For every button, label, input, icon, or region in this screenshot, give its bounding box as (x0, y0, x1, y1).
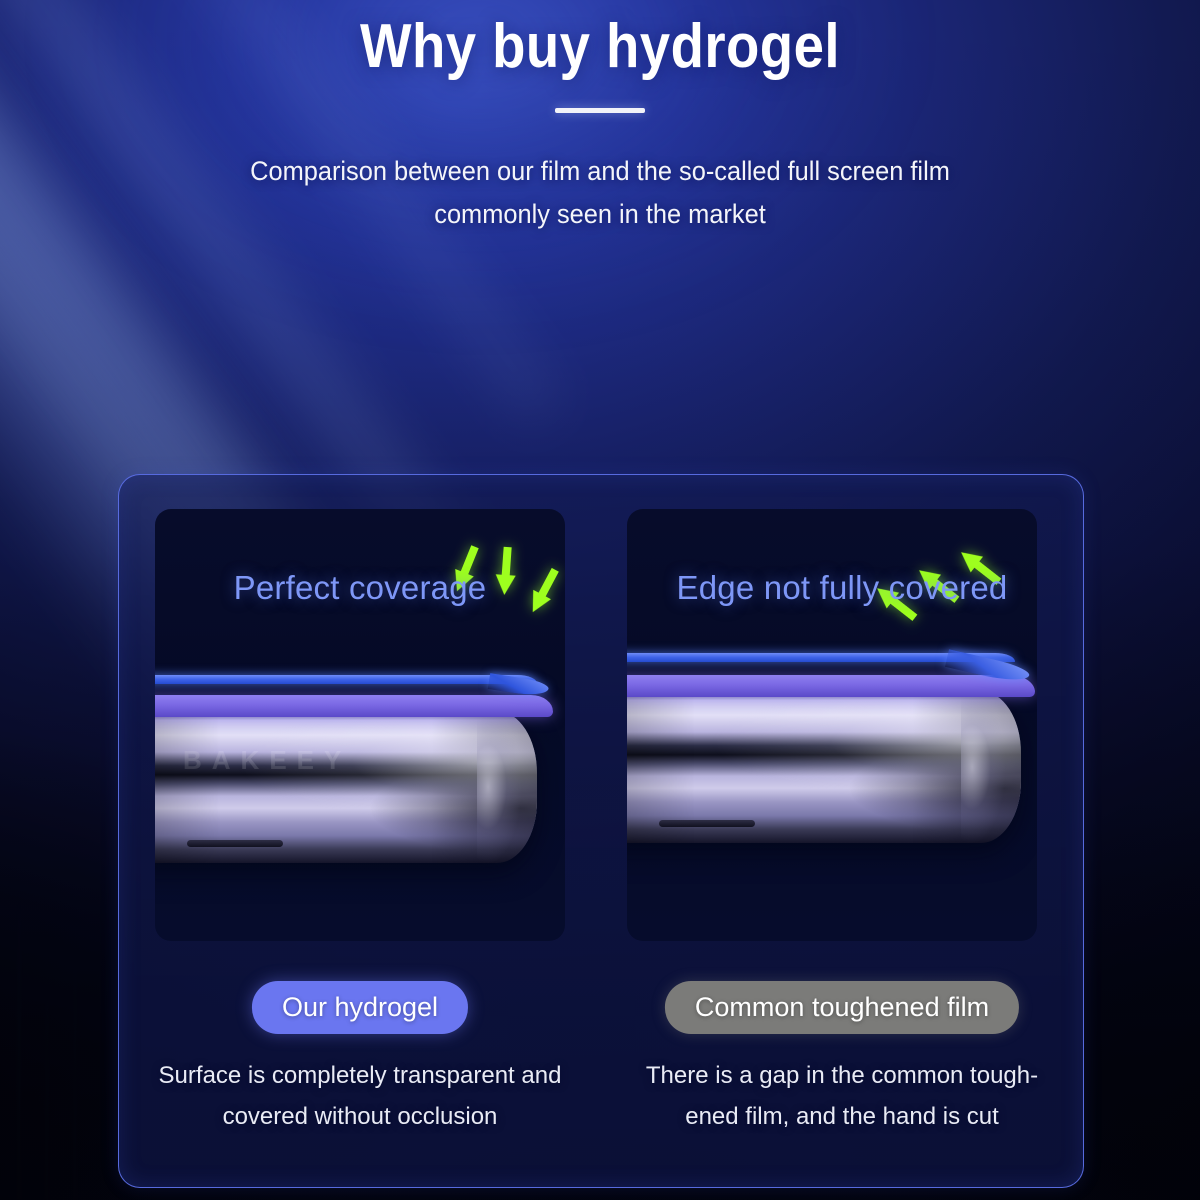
phone-screen-band (155, 695, 553, 717)
panel-title-perfect-coverage: Perfect coverage (119, 569, 601, 607)
caption-line-2: covered without occlusion (141, 1096, 579, 1137)
promo-banner: Why buy hydrogel Comparison between our … (0, 0, 1200, 1200)
page-title: Why buy hydrogel (72, 0, 1128, 86)
caption-line-1: Surface is completely transparent and (141, 1055, 579, 1096)
subtitle-line-1: Comparison between our film and the so-c… (250, 156, 820, 186)
panel-title-edge-not-covered: Edge not fully covered (601, 569, 1083, 607)
caption-our-hydrogel: Surface is completely transparent and co… (119, 1055, 601, 1138)
hydrogel-film-line (155, 675, 537, 684)
comparison-column-our-hydrogel: BAKEEY (119, 475, 601, 1187)
caption-line-2: ened film, and the hand is cut (623, 1096, 1061, 1137)
caption-line-1: There is a gap in the common tough- (623, 1055, 1061, 1096)
phone-side-button (659, 820, 755, 827)
phone-body (627, 691, 1021, 843)
phone-side-button (187, 840, 283, 847)
header: Why buy hydrogel Comparison between our … (0, 0, 1200, 237)
comparison-column-common-film: Edge not fully covered Common toughened … (601, 475, 1083, 1187)
page-subtitle: Comparison between our film and the so-c… (233, 150, 966, 237)
phone-edge-highlight (961, 691, 1023, 843)
caption-common-film: There is a gap in the common tough- ened… (601, 1055, 1083, 1138)
phone-edge-highlight (477, 711, 539, 863)
phone-screen-band (627, 675, 1035, 697)
label-common-toughened-film[interactable]: Common toughened film (665, 981, 1019, 1034)
phone-body: BAKEEY (155, 711, 537, 863)
comparison-card: BAKEEY (118, 474, 1084, 1188)
title-divider (555, 108, 645, 113)
label-our-hydrogel[interactable]: Our hydrogel (252, 981, 468, 1034)
